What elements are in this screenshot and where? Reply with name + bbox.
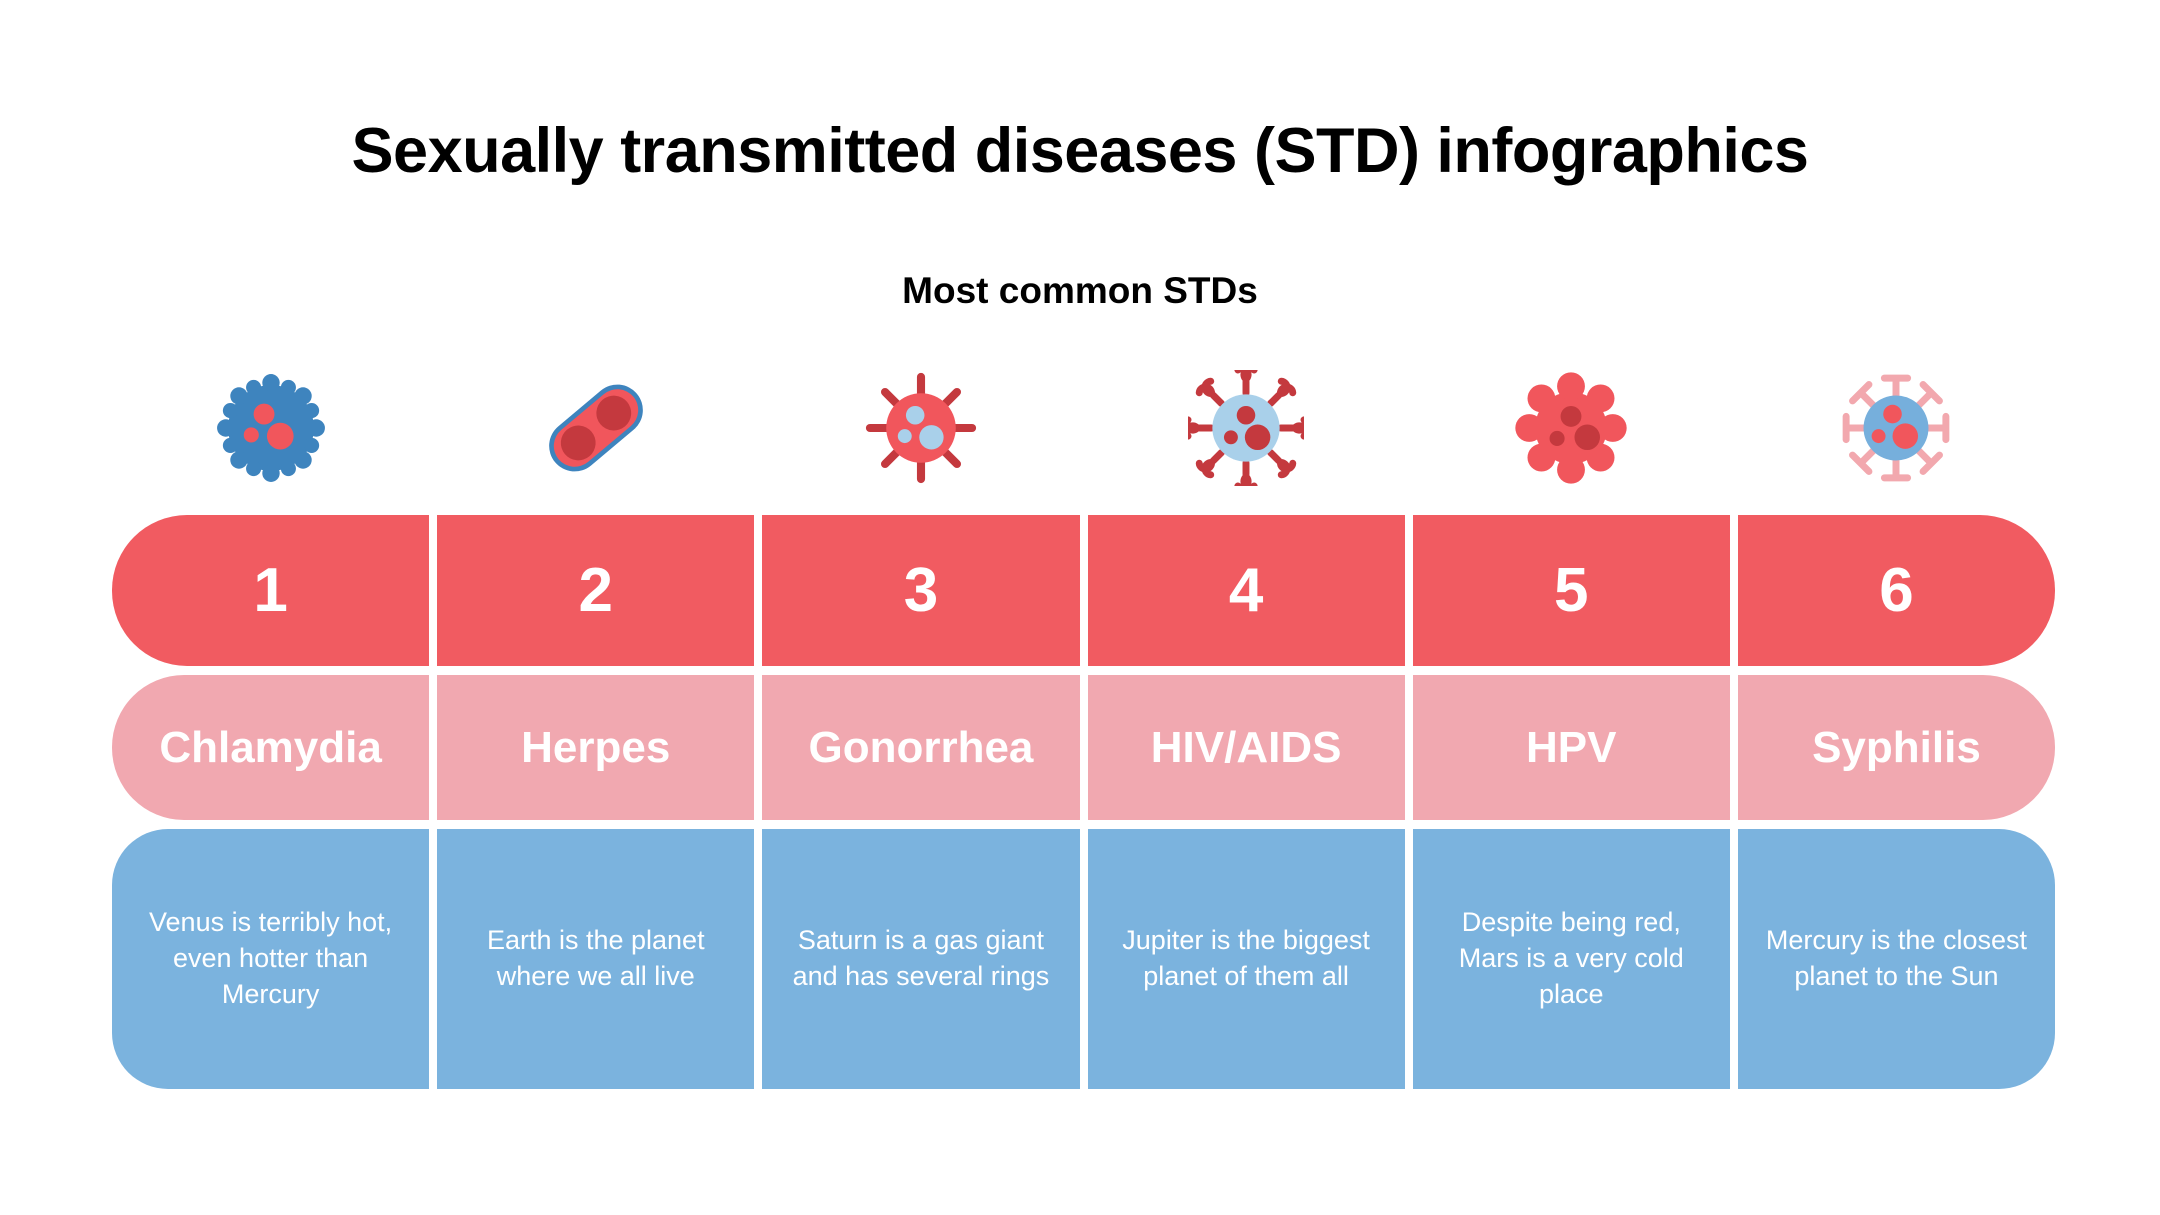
- page-title: Sexually transmitted diseases (STD) info…: [0, 118, 2160, 184]
- description-text: Saturn is a gas giant and has several ri…: [784, 923, 1057, 995]
- description-row: Venus is terribly hot, even hotter than …: [112, 829, 2055, 1089]
- name-row: Chlamydia Herpes Gonorrhea HIV/AIDS HPV …: [112, 675, 2055, 820]
- number-cell-1[interactable]: 1: [112, 515, 429, 666]
- icon-cell-3: [762, 340, 1079, 515]
- name-cell-6[interactable]: Syphilis: [1738, 675, 2055, 820]
- disease-name: HIV/AIDS: [1145, 726, 1348, 770]
- number-cell-3[interactable]: 3: [762, 515, 1079, 666]
- icon-row: [112, 340, 2055, 515]
- dividing-cell-icon: [538, 370, 654, 486]
- icon-cell-6: [1738, 340, 2055, 515]
- description-cell-5[interactable]: Despite being red, Mars is a very cold p…: [1413, 829, 1730, 1089]
- disease-name: Herpes: [515, 726, 676, 770]
- icon-cell-1: [112, 340, 429, 515]
- std-table: 1 2 3 4 5 6 Chlamydia Herpes: [112, 340, 2055, 1089]
- number-label: 4: [1229, 560, 1263, 622]
- number-label: 2: [579, 560, 613, 622]
- number-cell-2[interactable]: 2: [437, 515, 754, 666]
- number-cell-5[interactable]: 5: [1413, 515, 1730, 666]
- description-cell-4[interactable]: Jupiter is the biggest planet of them al…: [1088, 829, 1405, 1089]
- description-text: Jupiter is the biggest planet of them al…: [1110, 923, 1383, 995]
- red-spiked-virus-icon: [863, 370, 979, 486]
- description-cell-1[interactable]: Venus is terribly hot, even hotter than …: [112, 829, 429, 1089]
- disease-name: Chlamydia: [153, 726, 388, 770]
- hiv-virus-icon: [1188, 370, 1304, 486]
- name-cell-1[interactable]: Chlamydia: [112, 675, 429, 820]
- disease-name: Syphilis: [1806, 726, 1987, 770]
- description-cell-2[interactable]: Earth is the planet where we all live: [437, 829, 754, 1089]
- description-cell-3[interactable]: Saturn is a gas giant and has several ri…: [762, 829, 1079, 1089]
- description-text: Venus is terribly hot, even hotter than …: [134, 905, 407, 1013]
- name-cell-5[interactable]: HPV: [1413, 675, 1730, 820]
- lobed-red-virus-icon: [1513, 370, 1629, 486]
- infographic-slide: Sexually transmitted diseases (STD) info…: [0, 0, 2160, 1215]
- name-cell-4[interactable]: HIV/AIDS: [1088, 675, 1405, 820]
- number-row: 1 2 3 4 5 6: [112, 515, 2055, 666]
- description-cell-6[interactable]: Mercury is the closest planet to the Sun: [1738, 829, 2055, 1089]
- description-text: Despite being red, Mars is a very cold p…: [1435, 905, 1708, 1013]
- number-label: 1: [253, 560, 287, 622]
- number-label: 5: [1554, 560, 1588, 622]
- number-cell-4[interactable]: 4: [1088, 515, 1405, 666]
- icon-cell-2: [437, 340, 754, 515]
- disease-name: HPV: [1520, 726, 1622, 770]
- disease-name: Gonorrhea: [802, 726, 1039, 770]
- page-subtitle: Most common STDs: [0, 272, 2160, 311]
- bumpy-blue-bacterium-icon: [213, 370, 329, 486]
- number-label: 6: [1879, 560, 1913, 622]
- name-cell-2[interactable]: Herpes: [437, 675, 754, 820]
- number-cell-6[interactable]: 6: [1738, 515, 2055, 666]
- icon-cell-4: [1088, 340, 1405, 515]
- name-cell-3[interactable]: Gonorrhea: [762, 675, 1079, 820]
- icon-cell-5: [1413, 340, 1730, 515]
- description-text: Earth is the planet where we all live: [459, 923, 732, 995]
- number-label: 3: [904, 560, 938, 622]
- description-text: Mercury is the closest planet to the Sun: [1760, 923, 2033, 995]
- pink-spiked-virus-icon: [1838, 370, 1954, 486]
